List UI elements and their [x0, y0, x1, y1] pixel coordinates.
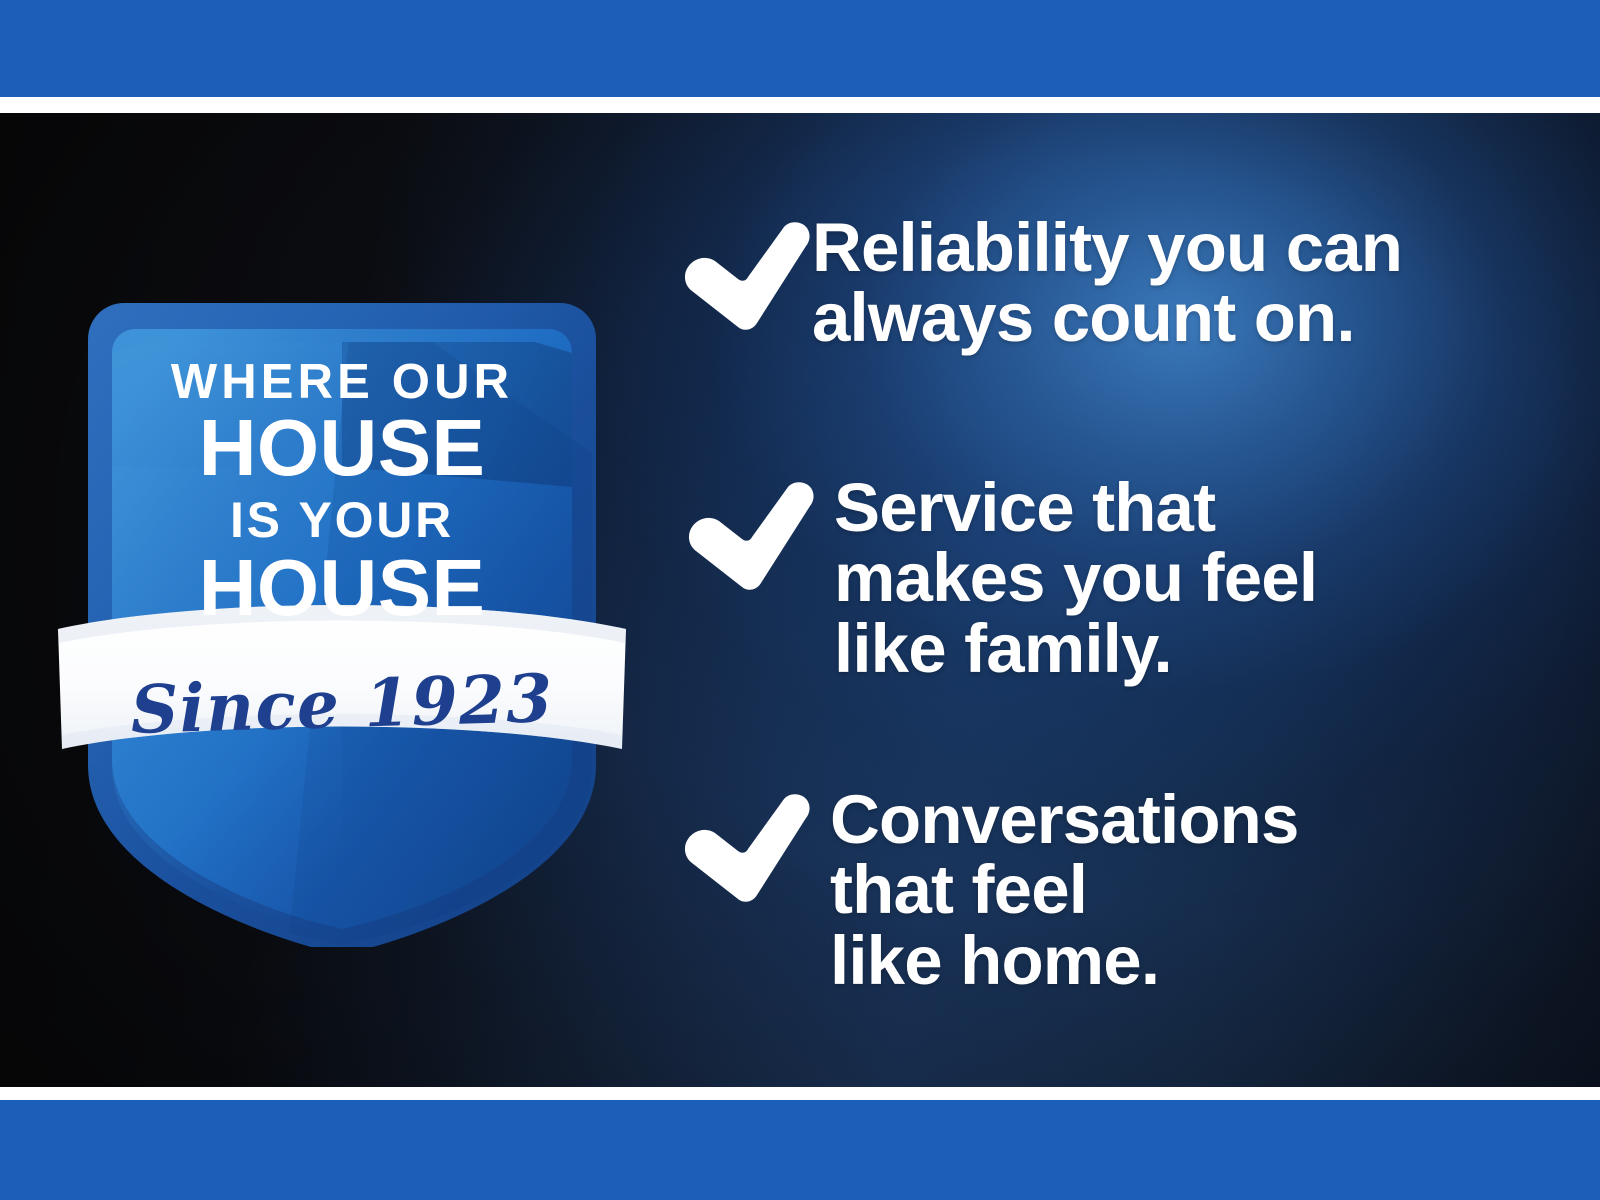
shield-graphic — [52, 167, 632, 947]
checkmark-icon — [676, 791, 812, 909]
benefit-item-reliability: Reliability you can always count on. — [676, 213, 1402, 354]
benefit-item-service: Service that makes you feel like family. — [680, 473, 1317, 684]
benefit-list: Reliability you can always count on. Ser… — [676, 113, 1536, 1087]
bottom-divider-rule — [0, 1087, 1600, 1100]
checkmark-icon — [680, 479, 816, 597]
benefit-text-conversations: Conversations that feel like home. — [830, 785, 1299, 996]
top-divider-rule — [0, 97, 1600, 113]
benefit-text-service: Service that makes you feel like family. — [834, 473, 1317, 684]
promo-graphic: Where Our House Is Your House Since 1923… — [0, 0, 1600, 1200]
checkmark-icon — [676, 219, 812, 337]
bottom-brand-band — [0, 1100, 1600, 1200]
benefit-text-reliability: Reliability you can always count on. — [812, 213, 1402, 354]
top-brand-band — [0, 0, 1600, 97]
benefit-item-conversations: Conversations that feel like home. — [676, 785, 1299, 996]
heritage-badge: Where Our House Is Your House Since 1923 — [52, 167, 632, 947]
